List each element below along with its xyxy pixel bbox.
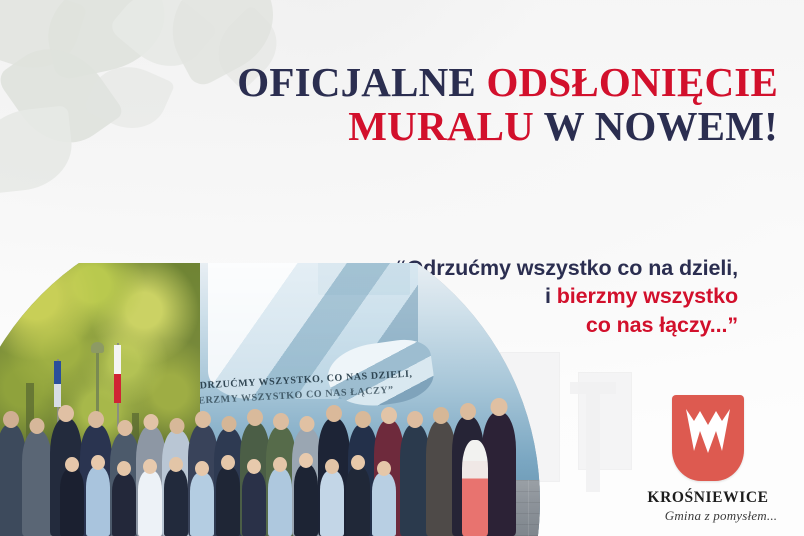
child-head	[65, 457, 79, 472]
quote-line-2-lead: i	[545, 284, 557, 308]
person-head	[58, 405, 74, 422]
quote-line-2-red: bierzmy wszystko	[557, 284, 738, 308]
person-figure	[22, 430, 52, 536]
person-head	[407, 411, 423, 428]
person-head	[355, 411, 371, 428]
person-head	[195, 411, 211, 428]
child-figure	[372, 472, 396, 536]
child-figure	[242, 470, 266, 536]
poster-headline: OFICJALNE ODSŁONIĘCIE MURALU W NOWEM!	[218, 61, 778, 149]
child-figure	[138, 470, 162, 536]
child-figure	[190, 472, 214, 536]
child-head	[325, 459, 339, 474]
child-head	[273, 457, 287, 472]
logo-municipality-name: KROŚNIEWICE	[630, 489, 786, 506]
quote-line-1: “Odrzućmy wszystko co na dzieli,	[396, 256, 738, 280]
person-head	[170, 418, 185, 434]
headline-line-1: OFICJALNE ODSŁONIĘCIE	[237, 59, 778, 105]
person-figure-floral-dress	[462, 440, 488, 536]
logo-tagline: Gmina z pomysłem...	[630, 508, 786, 524]
person-head	[247, 409, 263, 426]
background-ghost-pole	[570, 382, 616, 394]
person-head	[118, 420, 133, 436]
headline-text-red-2: MURALU	[348, 103, 534, 149]
headline-text-navy-1: OFICJALNE	[237, 59, 486, 105]
krosniewice-coat-of-arms-icon	[672, 395, 744, 481]
crowd-of-people	[0, 366, 545, 536]
person-head	[3, 411, 19, 428]
headline-text-navy-2: W NOWEM!	[534, 103, 778, 149]
child-figure	[112, 472, 136, 536]
child-head	[195, 461, 209, 476]
child-head	[169, 457, 183, 472]
person-head	[222, 416, 237, 432]
person-head	[491, 398, 508, 416]
main-photograph: „ODRZUĆMY WSZYSTKO, CO NAS DZIELI, BIERZ…	[0, 263, 545, 536]
person-head	[144, 414, 159, 430]
child-figure	[60, 468, 84, 536]
person-head	[433, 407, 449, 424]
person-head	[300, 416, 315, 432]
person-head	[273, 413, 289, 430]
person-head	[30, 418, 45, 434]
child-figure	[346, 466, 370, 536]
child-head	[299, 453, 313, 468]
photograph-content: „ODRZUĆMY WSZYSTKO, CO NAS DZIELI, BIERZ…	[0, 263, 545, 536]
person-head	[88, 411, 104, 428]
child-head	[221, 455, 235, 470]
background-ghost-pole	[586, 388, 600, 492]
poster-canvas: OFICJALNE ODSŁONIĘCIE MURALU W NOWEM! “O…	[0, 0, 804, 536]
person-head	[460, 403, 476, 420]
headline-line-2: MURALU W NOWEM!	[348, 103, 778, 149]
child-head	[247, 459, 261, 474]
child-head	[377, 461, 391, 476]
headline-text-red-1: ODSŁONIĘCIE	[486, 59, 778, 105]
child-figure	[294, 464, 318, 536]
child-figure	[216, 466, 240, 536]
municipality-logo: KROŚNIEWICE Gmina z pomysłem...	[630, 395, 786, 524]
child-figure	[268, 468, 292, 536]
person-head	[381, 407, 397, 424]
child-head	[143, 459, 157, 474]
child-figure	[86, 466, 110, 536]
quote-line-3-red: co nas łączy...”	[586, 313, 738, 337]
child-head	[117, 461, 131, 476]
person-head	[326, 405, 342, 422]
child-head	[91, 455, 105, 470]
child-figure	[164, 468, 188, 536]
child-head	[351, 455, 365, 470]
child-figure	[320, 470, 344, 536]
